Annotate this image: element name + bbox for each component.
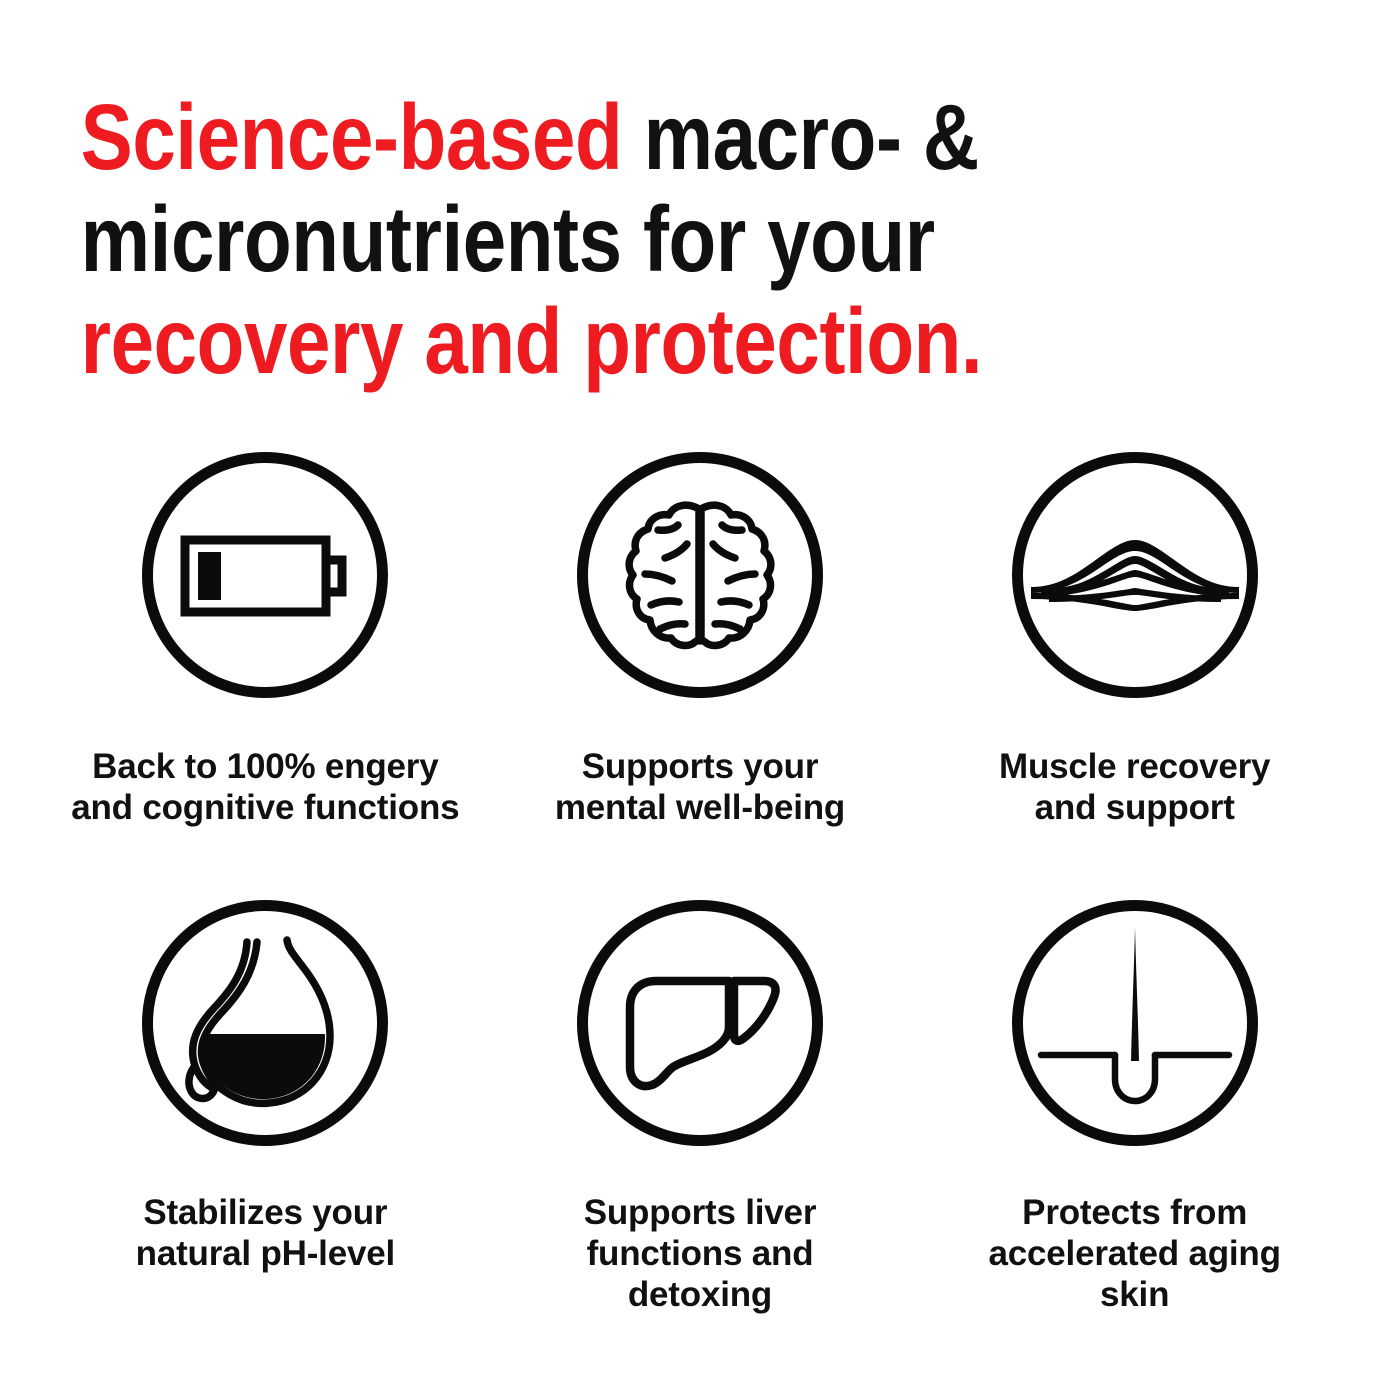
caption-line-1: Back to 100% engery [71,746,459,787]
benefit-item-skin-aging: Protects from accelerated aging skin [917,900,1352,1315]
headline-emphasis-red: Science-based [81,85,623,189]
benefit-caption: Protects from accelerated aging skin [989,1192,1281,1315]
caption-line-3: detoxing [584,1274,817,1315]
caption-line-1: Stabilizes your [136,1192,395,1233]
benefit-item-muscle-recovery: Muscle recovery and support [917,452,1352,828]
headline-line-1-rest: macro- & [622,85,979,189]
battery-low-icon [142,452,388,698]
caption-line-2: and support [999,787,1270,828]
caption-line-3: skin [989,1274,1281,1315]
caption-line-2: natural pH-level [136,1233,395,1274]
headline-line-2: micronutrients for your [81,188,1096,290]
benefit-item-energy: Back to 100% engery and cognitive functi… [48,452,483,828]
benefit-item-mental-wellbeing: Supports your mental well-being [483,452,918,828]
benefits-grid: Back to 100% engery and cognitive functi… [0,452,1400,1315]
caption-line-2: accelerated aging [989,1233,1281,1274]
brain-icon [577,452,823,698]
benefit-item-ph-level: Stabilizes your natural pH-level [48,900,483,1315]
muscle-fibers-icon [1012,452,1258,698]
benefit-caption: Muscle recovery and support [999,746,1270,828]
caption-line-2: functions and [584,1233,817,1274]
benefit-caption: Back to 100% engery and cognitive functi… [71,746,459,828]
benefit-item-liver: Supports liver functions and detoxing [483,900,918,1315]
page-title: Science-based macro- & micronutrients fo… [0,86,1176,392]
headline-line-3: recovery and protection. [81,290,1096,392]
benefit-caption: Supports your mental well-being [555,746,845,828]
caption-line-1: Supports liver [584,1192,817,1233]
caption-line-1: Protects from [989,1192,1281,1233]
headline-line-1: Science-based macro- & [81,86,1096,188]
caption-line-1: Muscle recovery [999,746,1270,787]
liver-icon [577,900,823,1146]
caption-line-2: and cognitive functions [71,787,459,828]
benefit-caption: Supports liver functions and detoxing [584,1192,817,1315]
benefit-caption: Stabilizes your natural pH-level [136,1192,395,1274]
hair-follicle-skin-icon [1012,900,1258,1146]
infographic-page: Science-based macro- & micronutrients fo… [0,0,1400,1400]
caption-line-2: mental well-being [555,787,845,828]
caption-line-1: Supports your [555,746,845,787]
stomach-icon [142,900,388,1146]
